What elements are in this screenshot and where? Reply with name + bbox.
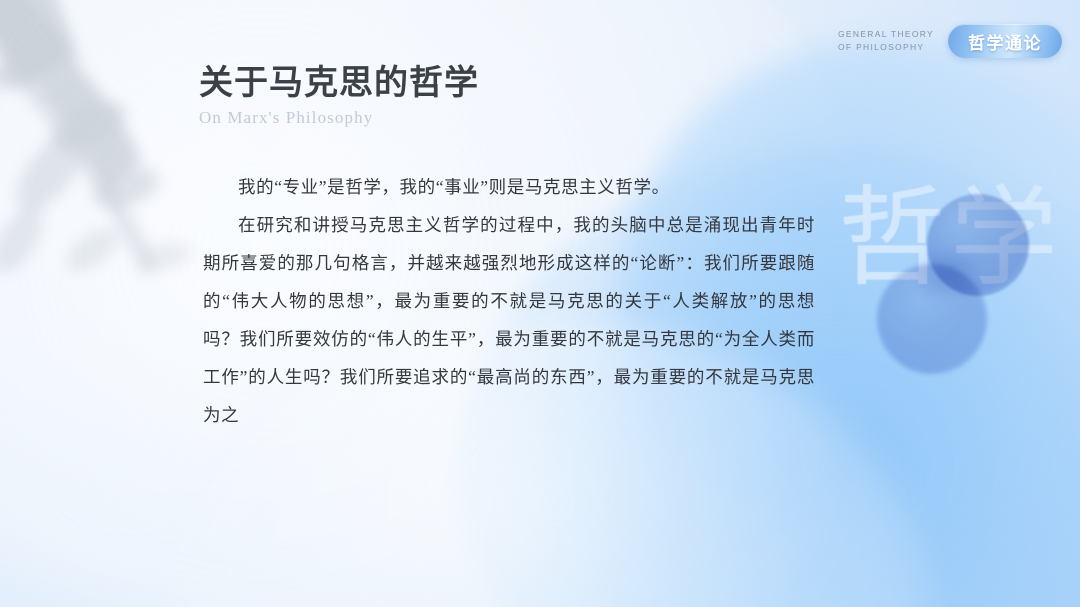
body-text-block: 我的“专业”是哲学，我的“事业”则是马克思主义哲学。 在研究和讲授马克思主义哲学… (203, 168, 815, 434)
slide-canvas: 哲学 GENERAL THEORY OF PHILOSOPHY 哲学通论 关于马… (0, 0, 1080, 607)
sphere-noise-texture (927, 194, 1029, 296)
brand-subtitle-line1: GENERAL THEORY (838, 28, 934, 41)
page-title-block: 关于马克思的哲学 On Marx's Philosophy (199, 64, 479, 128)
body-paragraph: 在研究和讲授马克思主义哲学的过程中，我的头脑中总是涌现出青年时期所喜爱的那几句格… (203, 206, 815, 434)
course-badge[interactable]: 哲学通论 (948, 24, 1062, 58)
brand-subtitle-en: GENERAL THEORY OF PHILOSOPHY (838, 28, 934, 54)
grain-sphere-icon-top (927, 194, 1029, 296)
page-subtitle: On Marx's Philosophy (199, 108, 479, 128)
body-paragraph: 我的“专业”是哲学，我的“事业”则是马克思主义哲学。 (203, 168, 815, 206)
brand-subtitle-line2: OF PHILOSOPHY (838, 41, 934, 54)
course-badge-label: 哲学通论 (968, 29, 1042, 54)
page-title: 关于马克思的哲学 (199, 64, 479, 103)
header-brand: GENERAL THEORY OF PHILOSOPHY 哲学通论 (838, 24, 1062, 58)
